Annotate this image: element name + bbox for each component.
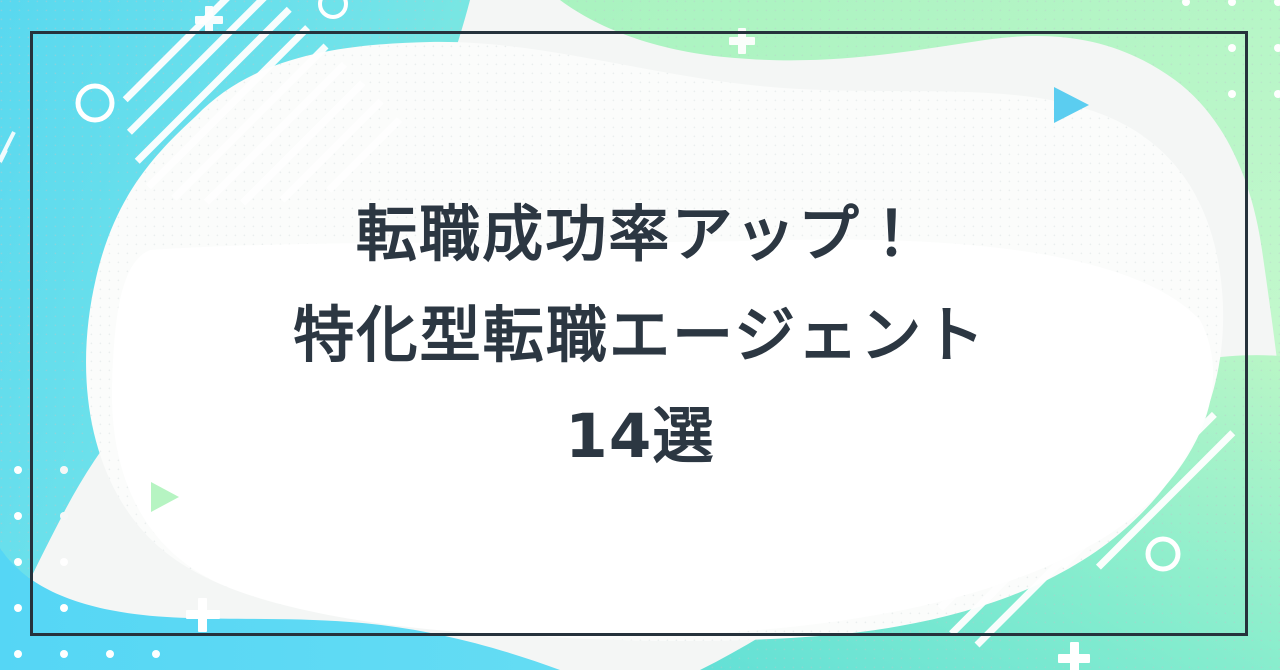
background-svg — [0, 0, 1280, 670]
thumbnail-canvas: 転職成功率アップ！ 特化型転職エージェント 14選 — [0, 0, 1280, 670]
background-art — [0, 0, 1280, 670]
